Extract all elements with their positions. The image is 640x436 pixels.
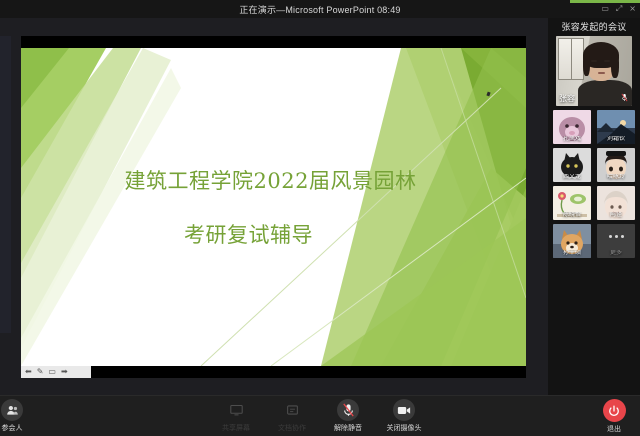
more-participants-label: 更多 <box>597 250 635 257</box>
share-screen-label: 共享屏幕 <box>222 423 250 433</box>
window-title-bar: 正在演示—Microsoft PowerPoint 08:49 ▭ ⤢ ⨯ <box>0 0 640 18</box>
stop-video-label: 关闭摄像头 <box>387 423 422 433</box>
speaker-eye-left <box>591 60 597 62</box>
next-slide-icon[interactable]: ➡ <box>61 368 68 376</box>
participant-tile[interactable]: 孔凤戏 <box>553 110 591 144</box>
participants-label: 参会人 <box>2 423 23 433</box>
camera-icon[interactable] <box>393 399 415 421</box>
more-participants-tile[interactable]: 更多 <box>597 224 635 258</box>
participant-tile[interactable]: 孙千硕 <box>553 224 591 258</box>
window-controls[interactable]: ▭ ⤢ ⨯ <box>601 0 636 18</box>
leave-label: 退出 <box>607 424 621 434</box>
powerpoint-slide[interactable]: 建筑工程学院2022届风景园林 考研复试辅导 <box>21 48 526 366</box>
slide-decoration <box>21 48 526 366</box>
power-icon[interactable] <box>603 399 626 422</box>
share-screen-button[interactable]: 共享屏幕 <box>212 399 260 433</box>
participant-name: 孔凤戏 <box>553 136 591 143</box>
participant-name: 刘霜钦 <box>597 136 635 143</box>
participant-name: 西文龙 <box>553 174 591 181</box>
participant-name: 孙千硕 <box>553 250 591 257</box>
mic-muted-icon[interactable] <box>337 399 359 421</box>
meeting-bottom-toolbar: 参会人 共享屏幕 <box>0 395 640 436</box>
left-edge-strip <box>0 36 11 333</box>
speaker-eye-right <box>604 60 610 62</box>
speaker-name-label: 张容 <box>559 93 575 104</box>
pen-icon[interactable]: ✎ <box>37 368 44 376</box>
shared-screen-stage[interactable]: 建筑工程学院2022届风景园林 考研复试辅导 ⬅ ✎ ▭ ➡ <box>0 18 548 396</box>
window-title: 正在演示—Microsoft PowerPoint 08:49 <box>239 3 400 16</box>
meeting-host-title: 张容发起的会议 <box>548 18 640 34</box>
participant-name: 阿怪 <box>597 212 635 219</box>
screen-share-icon[interactable] <box>225 399 247 421</box>
participants-icon[interactable] <box>1 399 23 421</box>
document-collab-button[interactable]: 文档协作 <box>268 399 316 433</box>
powerpoint-presenter-tray[interactable]: ⬅ ✎ ▭ ➡ <box>21 366 91 378</box>
meeting-app-window: 正在演示—Microsoft PowerPoint 08:49 ▭ ⤢ ⨯ <box>0 0 640 436</box>
speaker-window-object <box>558 38 584 80</box>
participant-tile[interactable]: 阿怪 <box>597 186 635 220</box>
more-dots-icon <box>597 235 635 238</box>
participant-name: 陈晓怡 <box>553 212 591 219</box>
speaker-hair-right <box>611 52 619 78</box>
unmute-button[interactable]: 解除静音 <box>324 399 372 433</box>
restore-icon[interactable]: ⤢ <box>616 5 622 13</box>
speaker-mouth <box>598 72 605 74</box>
stop-video-button[interactable]: 关闭摄像头 <box>380 399 428 433</box>
document-icon[interactable] <box>281 399 303 421</box>
close-icon[interactable]: ⨯ <box>629 5 636 13</box>
participant-rail[interactable]: 张容发起的会议 张容 <box>548 18 640 396</box>
participants-button[interactable]: 参会人 <box>0 399 36 433</box>
slide-menu-icon[interactable]: ▭ <box>48 368 56 376</box>
prev-slide-icon[interactable]: ⬅ <box>25 368 32 376</box>
participant-grid[interactable]: 孔凤戏 刘霜钦 <box>552 110 636 258</box>
participant-tile[interactable]: 西文龙 <box>553 148 591 182</box>
toolbar-buttons[interactable]: 共享屏幕 文档协作 <box>212 399 428 433</box>
speaker-hair-left <box>583 52 590 76</box>
participant-tile[interactable]: 哈咏玲 <box>597 148 635 182</box>
document-collab-label: 文档协作 <box>278 423 306 433</box>
leave-meeting-button[interactable]: 退出 <box>596 399 632 434</box>
mic-muted-icon <box>621 93 628 102</box>
unmute-label: 解除静音 <box>334 423 362 433</box>
participant-name: 哈咏玲 <box>597 174 635 181</box>
minimize-icon[interactable]: ▭ <box>601 5 609 13</box>
shared-screen-frame[interactable]: 建筑工程学院2022届风景园林 考研复试辅导 ⬅ ✎ ▭ ➡ <box>21 36 526 378</box>
active-speaker-tile[interactable]: 张容 <box>556 36 632 106</box>
participant-tile[interactable]: 刘霜钦 <box>597 110 635 144</box>
participant-tile[interactable]: 陈晓怡 <box>553 186 591 220</box>
